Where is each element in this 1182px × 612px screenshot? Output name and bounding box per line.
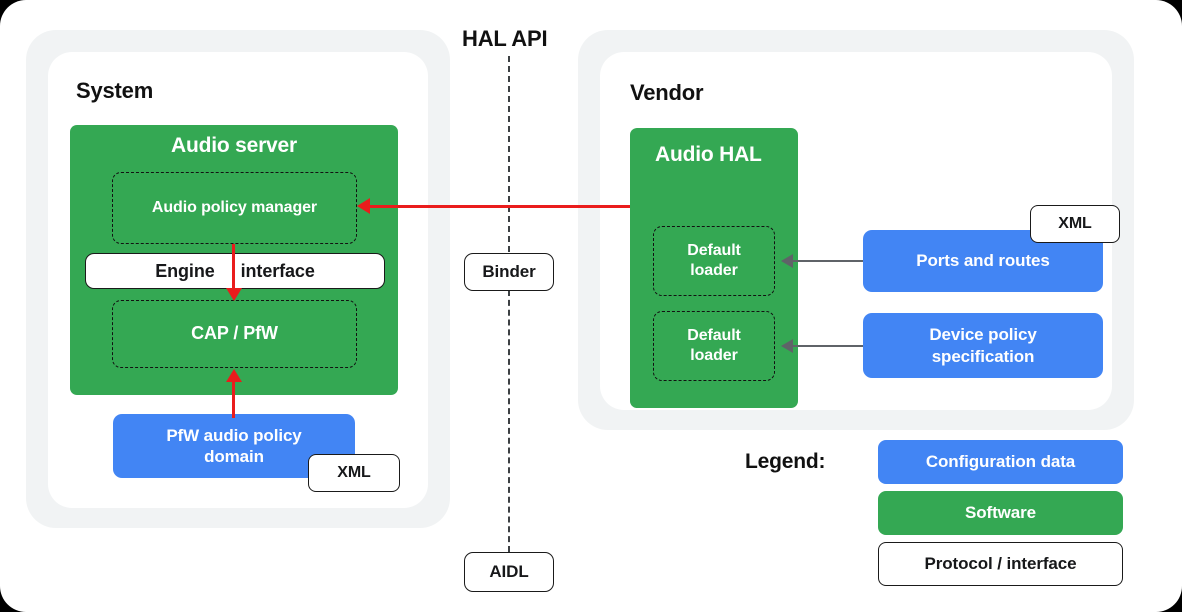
default-loader-top-label: Default loader [687, 241, 741, 280]
arrow-hal-to-apm-head [357, 198, 370, 214]
pfw-audio-policy-domain-label: PfW audio policy domain [166, 425, 301, 468]
default-loader-bottom-box: Default loader [653, 311, 775, 381]
audio-policy-manager-box: Audio policy manager [112, 172, 357, 244]
legend-item-software: Software [878, 491, 1123, 535]
ports-xml-badge: XML [1030, 205, 1120, 243]
arrow-ports-to-loader-line [793, 260, 863, 262]
hal-api-divider-line-mid [508, 290, 510, 552]
arrow-devicepolicy-to-loader-head [781, 339, 793, 353]
legend-label: Legend: [745, 450, 825, 474]
binder-pill: Binder [464, 253, 554, 291]
audio-server-title: Audio server [70, 134, 398, 158]
engine-interface-bar: Engine interface [85, 253, 385, 289]
diagram-canvas: System Audio server Audio policy manager… [0, 0, 1182, 612]
default-loader-top-box: Default loader [653, 226, 775, 296]
hal-api-divider-line [508, 56, 510, 252]
interface-label: interface [241, 261, 315, 282]
device-policy-specification-box: Device policy specification [863, 313, 1103, 378]
arrow-pfw-to-cap-line [232, 380, 235, 418]
legend-item-protocol-interface: Protocol / interface [878, 542, 1123, 586]
default-loader-bottom-label: Default loader [687, 326, 741, 365]
arrow-devicepolicy-to-loader-line [793, 345, 863, 347]
arrow-ports-to-loader-head [781, 254, 793, 268]
hal-api-title: HAL API [462, 26, 547, 52]
arrow-pfw-to-cap-head [226, 369, 242, 382]
audio-hal-title: Audio HAL [655, 143, 815, 167]
cap-pfw-box: CAP / PfW [112, 300, 357, 368]
vendor-title: Vendor [630, 80, 703, 106]
arrow-apm-to-cap-head [226, 288, 242, 301]
legend-item-configuration-data: Configuration data [878, 440, 1123, 484]
pfw-xml-badge: XML [308, 454, 400, 492]
engine-label: Engine [155, 261, 214, 282]
system-title: System [76, 78, 153, 104]
aidl-pill: AIDL [464, 552, 554, 592]
arrow-apm-to-cap-line [232, 244, 235, 292]
arrow-hal-to-apm-line [369, 205, 630, 208]
device-policy-specification-label: Device policy specification [929, 324, 1036, 367]
